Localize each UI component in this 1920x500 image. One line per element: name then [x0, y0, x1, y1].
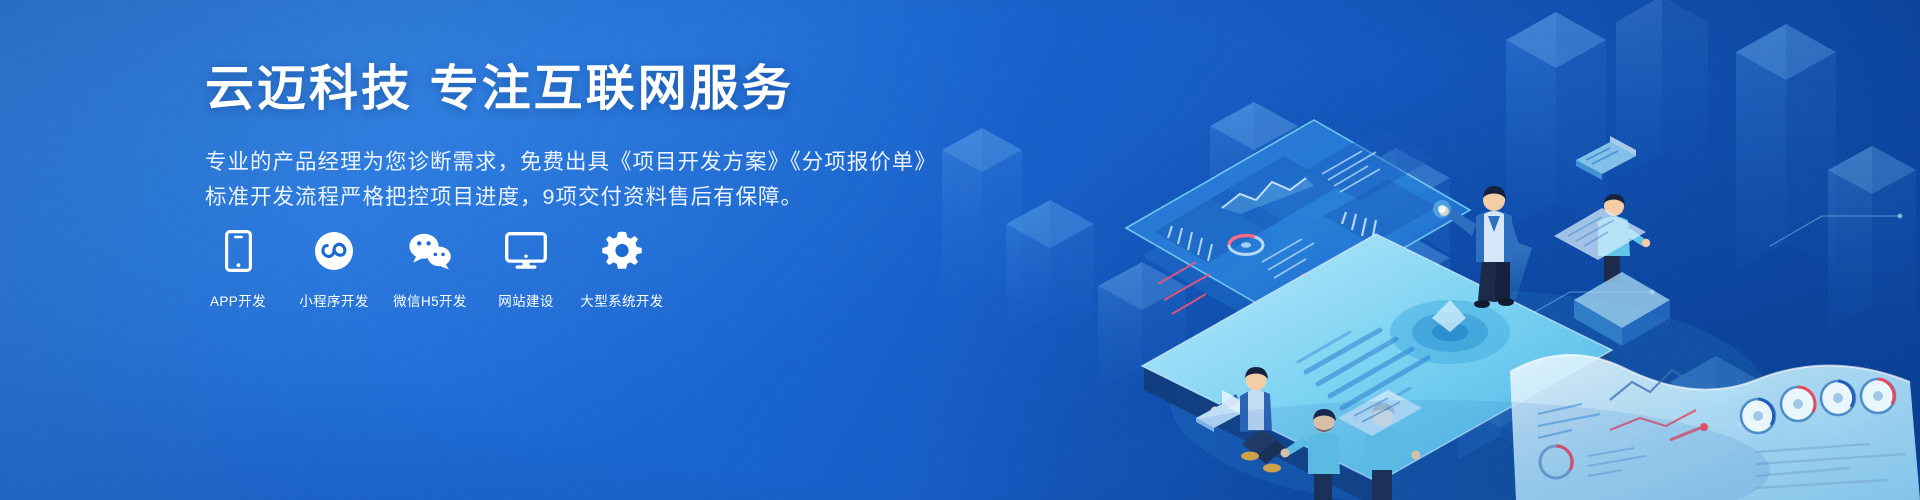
service-label-website: 网站建设	[498, 290, 554, 310]
service-list: APP开发 小程序开发	[200, 228, 660, 310]
subtitle-line-2: 标准开发流程严格把控项目进度，9项交付资料售后有保障。	[205, 180, 945, 215]
smartphone-icon	[225, 228, 252, 274]
banner-subtitle: 专业的产品经理为您诊断需求，免费出具《项目开发方案》《分项报价单》 标准开发流程…	[205, 145, 945, 215]
promo-banner: 云迈科技 专注互联网服务 专业的产品经理为您诊断需求，免费出具《项目开发方案》《…	[0, 0, 1920, 500]
service-label-app: APP开发	[210, 290, 266, 310]
service-label-large-system: 大型系统开发	[580, 290, 663, 310]
banner-text-block: 云迈科技 专注互联网服务 专业的产品经理为您诊断需求，免费出具《项目开发方案》《…	[205, 62, 945, 215]
monitor-icon	[505, 228, 547, 274]
service-label-wechat-h5: 微信H5开发	[393, 290, 467, 310]
page-title: 云迈科技 专注互联网服务	[205, 62, 945, 118]
subtitle-line-1: 专业的产品经理为您诊断需求，免费出具《项目开发方案》《分项报价单》	[205, 145, 945, 180]
service-item-wechat-h5[interactable]: 微信H5开发	[392, 228, 468, 310]
mini-program-icon	[314, 228, 354, 274]
isometric-tech-illustration	[910, 0, 1920, 500]
gear-icon	[601, 228, 643, 274]
service-item-large-system[interactable]: 大型系统开发	[584, 228, 660, 310]
service-item-website[interactable]: 网站建设	[488, 228, 564, 310]
wechat-icon	[407, 228, 453, 274]
floating-document-panel	[1554, 208, 1646, 260]
service-label-mini-program: 小程序开发	[299, 290, 369, 310]
service-item-mini-program[interactable]: 小程序开发	[296, 228, 372, 310]
service-item-app[interactable]: APP开发	[200, 228, 276, 310]
